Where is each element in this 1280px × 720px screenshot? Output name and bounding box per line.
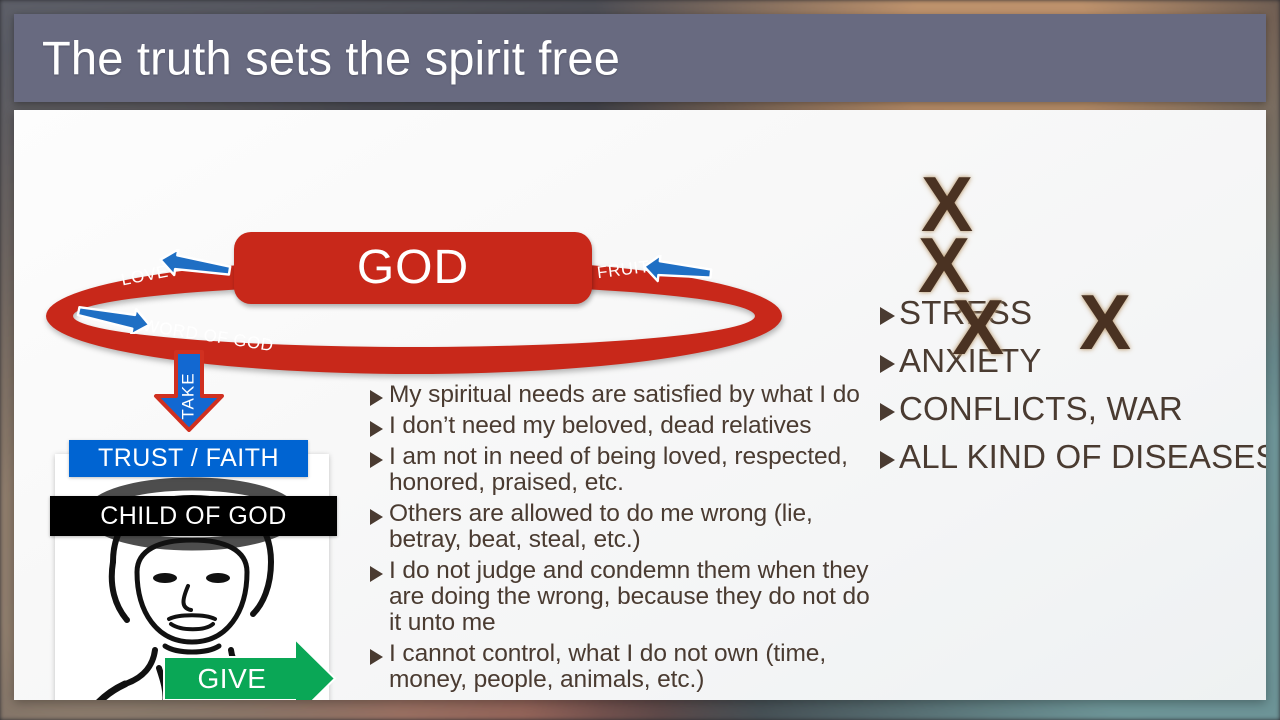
list-item-label: I do not need power over others — [389, 698, 732, 700]
slide-title-bar: The truth sets the spirit free — [14, 14, 1266, 102]
list-item: I do not judge and condemn them when the… — [370, 558, 870, 636]
trust-faith-banner: TRUST / FAITH — [69, 440, 308, 477]
give-arrow — [162, 637, 337, 700]
list-item: ANXIETY — [880, 344, 1266, 377]
list-item-label: I do not judge and condemn them when the… — [389, 558, 870, 636]
list-item-label: ALL KIND OF DISEASES — [899, 440, 1266, 473]
list-item-label: My spiritual needs are satisfied by what… — [389, 382, 860, 408]
page-title: The truth sets the spirit free — [42, 35, 620, 82]
arrow-fruit-icon — [639, 255, 715, 285]
bullet-triangle-icon — [880, 355, 895, 373]
list-item-label: Others are allowed to do me wrong (lie, … — [389, 501, 870, 553]
slide-root: The truth sets the spirit free GOD LOVE … — [0, 0, 1280, 720]
bullet-triangle-icon — [370, 452, 383, 468]
bullet-triangle-icon — [370, 566, 383, 582]
slide-content-panel: GOD LOVE WORD OF GOD FRUIT — [14, 110, 1266, 700]
arrow-word-of-god-icon — [72, 302, 156, 334]
list-item: I am not in need of being loved, respect… — [370, 444, 870, 496]
cross-out-mark-icon: X — [1079, 283, 1131, 361]
god-box: GOD — [234, 232, 592, 304]
bullet-triangle-icon — [880, 307, 895, 325]
right-bullet-list: STRESS ANXIETY CONFLICTS, WAR ALL KIND O… — [880, 296, 1266, 488]
trust-faith-label: TRUST / FAITH — [98, 444, 279, 473]
bullet-triangle-icon — [370, 390, 383, 406]
cross-out-mark-icon: X — [952, 288, 1004, 366]
god-label: GOD — [234, 232, 592, 304]
list-item-label: I don’t need my beloved, dead relatives — [389, 413, 811, 439]
child-of-god-banner: CHILD OF GOD — [50, 496, 337, 536]
list-item-label: I cannot control, what I do not own (tim… — [389, 641, 870, 693]
bullet-triangle-icon — [370, 649, 383, 665]
middle-bullet-list: My spiritual needs are satisfied by what… — [370, 382, 870, 700]
bullet-triangle-icon — [880, 403, 895, 421]
list-item-label: I am not in need of being loved, respect… — [389, 444, 870, 496]
list-item: Others are allowed to do me wrong (lie, … — [370, 501, 870, 553]
arrow-love-icon — [154, 249, 234, 281]
list-item: CONFLICTS, WAR — [880, 392, 1266, 425]
list-item: I cannot control, what I do not own (tim… — [370, 641, 870, 693]
list-item: ALL KIND OF DISEASES — [880, 440, 1266, 473]
bullet-triangle-icon — [880, 451, 895, 469]
list-item: My spiritual needs are satisfied by what… — [370, 382, 870, 408]
take-arrow — [152, 350, 226, 432]
list-item-label: CONFLICTS, WAR — [899, 392, 1183, 425]
child-of-god-label: CHILD OF GOD — [100, 502, 287, 531]
list-item: I don’t need my beloved, dead relatives — [370, 413, 870, 439]
list-item: I do not need power over others — [370, 698, 870, 700]
bullet-triangle-icon — [370, 421, 383, 437]
bullet-triangle-icon — [370, 509, 383, 525]
